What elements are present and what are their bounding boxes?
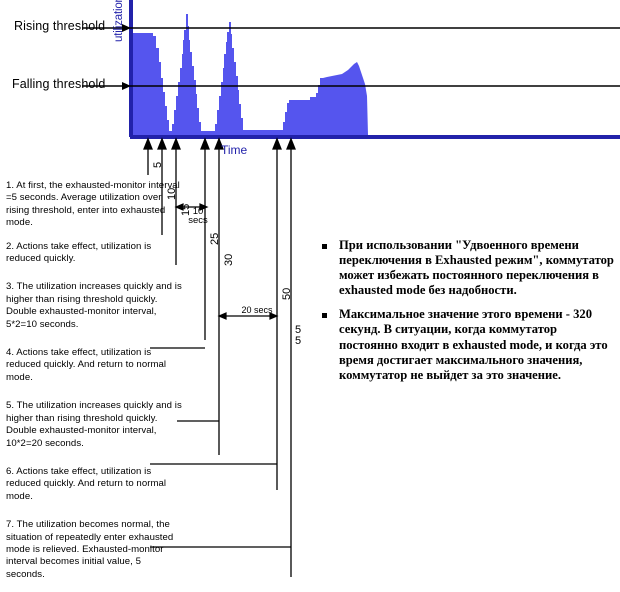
- x-axis-title: Time: [221, 143, 247, 157]
- utilization-final-hump: [281, 62, 368, 135]
- utilization-pulse-2: [172, 14, 205, 135]
- note-item-3: 3. The utilization increases quickly and…: [6, 281, 182, 331]
- diagram-root: Rising threshold Falling threshold utili…: [0, 0, 620, 577]
- note-item-7: 7. The utilization becomes normal, the s…: [6, 519, 182, 581]
- russian-notes-list: При использовании "Удвоенного времени пе…: [322, 238, 614, 392]
- falling-threshold-label: Falling threshold: [12, 77, 105, 91]
- y-axis-title: utilization: [113, 0, 125, 42]
- rising-threshold-label: Rising threshold: [14, 19, 105, 33]
- tick-label-5: 5: [152, 162, 164, 168]
- note-item-1: 1. At first, the exhausted-monitor inter…: [6, 180, 182, 230]
- utilization-pulse-3: [215, 22, 247, 135]
- tick-arrow-5: [144, 139, 152, 175]
- russian-note-item-2: Максимальное значение этого времени - 32…: [322, 307, 614, 382]
- russian-note-text-1: При использовании "Удвоенного времени пе…: [339, 238, 614, 298]
- utilization-area-series: [133, 14, 368, 135]
- bullet-square-icon: [322, 313, 327, 318]
- note-item-2: 2. Actions take effect, utilization is r…: [6, 241, 182, 266]
- interval-10-secs-label: 10 secs: [186, 207, 210, 225]
- russian-note-item-1: При использовании "Удвоенного времени пе…: [322, 238, 614, 298]
- tick-label-55: 5 5: [295, 325, 307, 347]
- tick-arrow-25: [201, 139, 209, 340]
- tick-label-30: 30: [223, 254, 235, 266]
- tick-arrow-30: [215, 139, 223, 455]
- bullet-square-icon: [322, 244, 327, 249]
- note-item-6: 6. Actions take effect, utilization is r…: [6, 466, 182, 503]
- notes-list: 1. At first, the exhausted-monitor inter…: [6, 180, 182, 592]
- interval-20-secs-label: 20 secs: [236, 306, 278, 315]
- tick-label-50: 50: [281, 288, 293, 300]
- russian-note-text-2: Максимальное значение этого времени - 32…: [339, 307, 614, 382]
- note-item-4: 4. Actions take effect, utilization is r…: [6, 347, 182, 384]
- tick-label-55-line2: 5: [295, 336, 307, 347]
- utilization-plateau-3: [241, 130, 283, 135]
- utilization-plateau-2: [199, 131, 217, 135]
- tick-arrow-55: [287, 139, 295, 577]
- note-item-5: 5. The utilization increases quickly and…: [6, 400, 182, 450]
- tick-label-25: 25: [209, 233, 221, 245]
- interval-10-secs-unit: secs: [186, 216, 210, 225]
